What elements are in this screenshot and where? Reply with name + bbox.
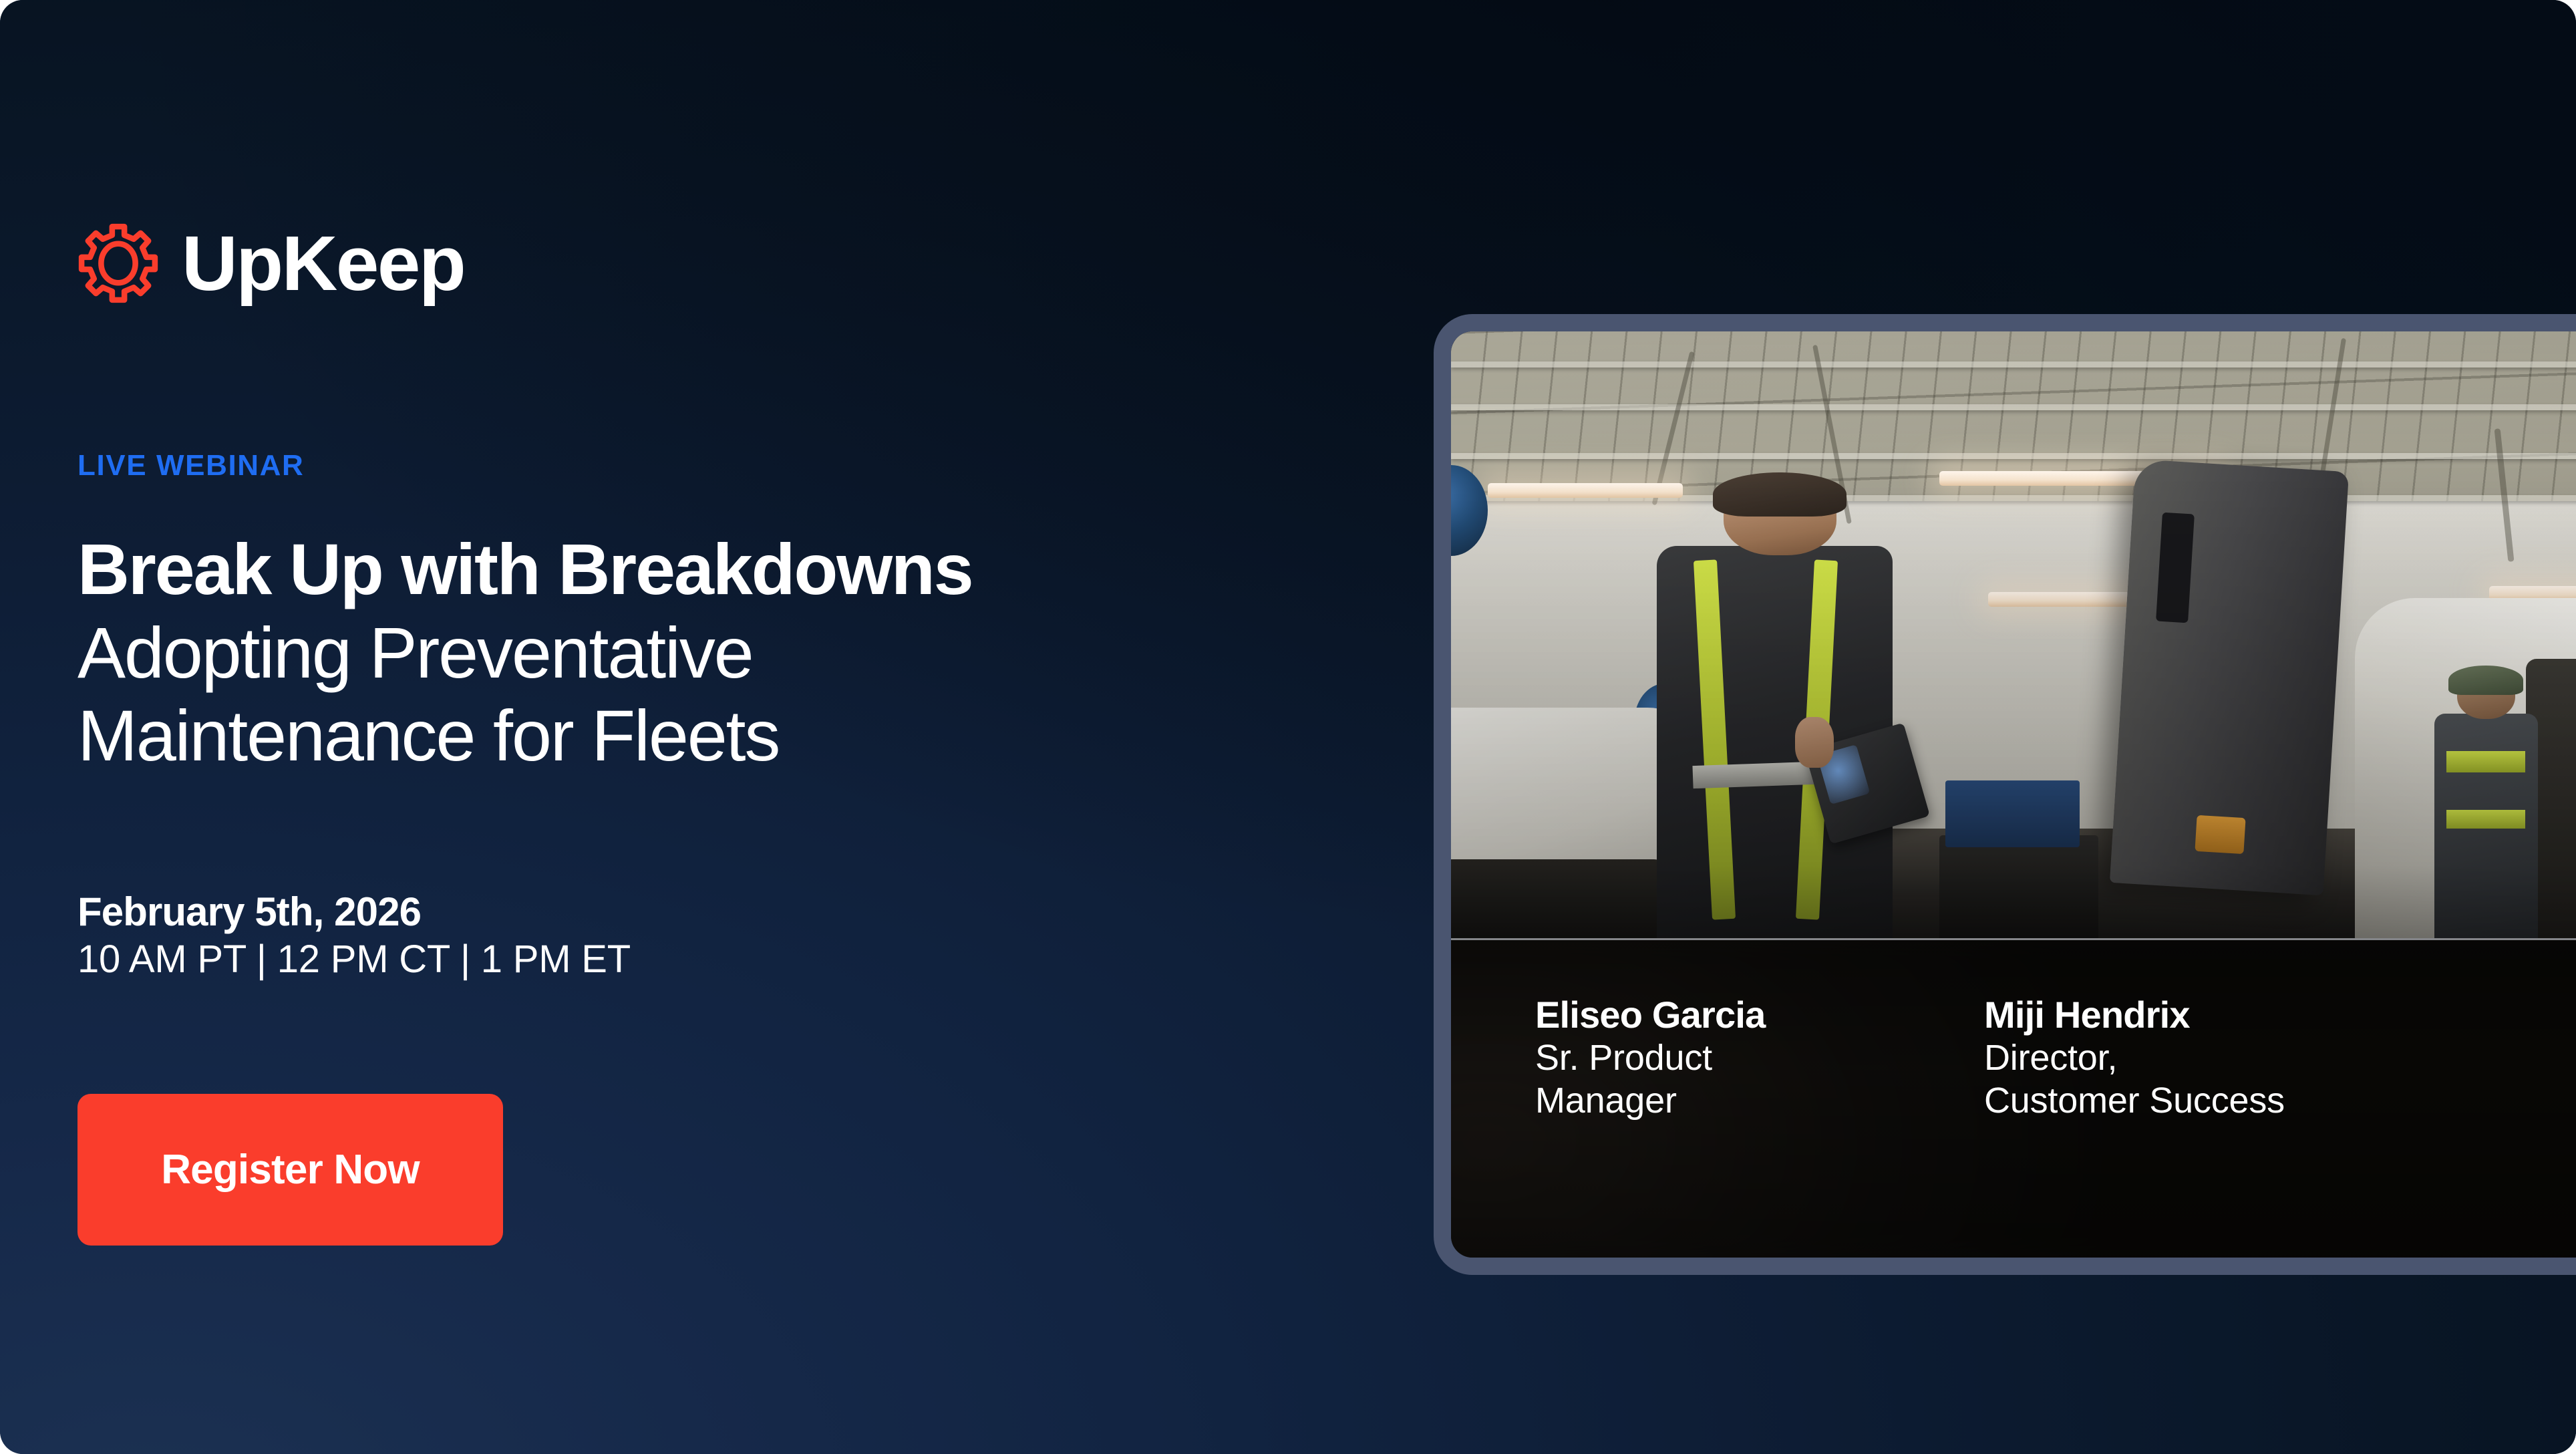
content-column: UpKeep LIVE WEBINAR Break Up with Breakd… <box>77 0 1387 1454</box>
brand-logo[interactable]: UpKeep <box>77 223 464 304</box>
headline-line-2: Adopting Preventative <box>77 611 1387 695</box>
page-title: Break Up with Breakdowns Adopting Preven… <box>77 528 1387 778</box>
eyebrow-label: LIVE WEBINAR <box>77 449 304 482</box>
register-now-button[interactable]: Register Now <box>77 1094 503 1246</box>
speaker-title: Director, <box>1984 1036 2305 1080</box>
webinar-date: February 5th, 2026 <box>77 889 631 936</box>
speakers-strip: Eliseo Garcia Sr. Product Manager Miji H… <box>1451 938 2576 1258</box>
speaker-media-card: Eliseo Garcia Sr. Product Manager Miji H… <box>1434 314 2576 1275</box>
headline-line-3: Maintenance for Fleets <box>77 694 1387 778</box>
speaker-card-2: Miji Hendrix Director, Customer Success <box>1984 994 2305 1258</box>
photo-color-grade <box>1451 331 2576 938</box>
speaker-title: Sr. Product <box>1535 1036 1856 1080</box>
shop-photo <box>1451 331 2576 938</box>
speaker-name: Miji Hendrix <box>1984 994 2305 1036</box>
speaker-title: Customer Success <box>1984 1079 2305 1123</box>
headline-line-1: Break Up with Breakdowns <box>77 528 1387 611</box>
speaker-name: Eliseo Garcia <box>1535 994 1856 1036</box>
media-card-inner: Eliseo Garcia Sr. Product Manager Miji H… <box>1451 331 2576 1258</box>
webinar-times: 10 AM PT | 12 PM CT | 1 PM ET <box>77 936 631 983</box>
speaker-title: Manager <box>1535 1079 1856 1123</box>
webinar-promo-banner: UpKeep LIVE WEBINAR Break Up with Breakd… <box>0 0 2576 1454</box>
gear-icon <box>77 223 159 304</box>
schedule-block: February 5th, 2026 10 AM PT | 12 PM CT |… <box>77 889 631 982</box>
speakers-list: Eliseo Garcia Sr. Product Manager Miji H… <box>1451 940 2576 1258</box>
speaker-card-1: Eliseo Garcia Sr. Product Manager <box>1535 994 1856 1258</box>
brand-wordmark: UpKeep <box>182 225 464 302</box>
